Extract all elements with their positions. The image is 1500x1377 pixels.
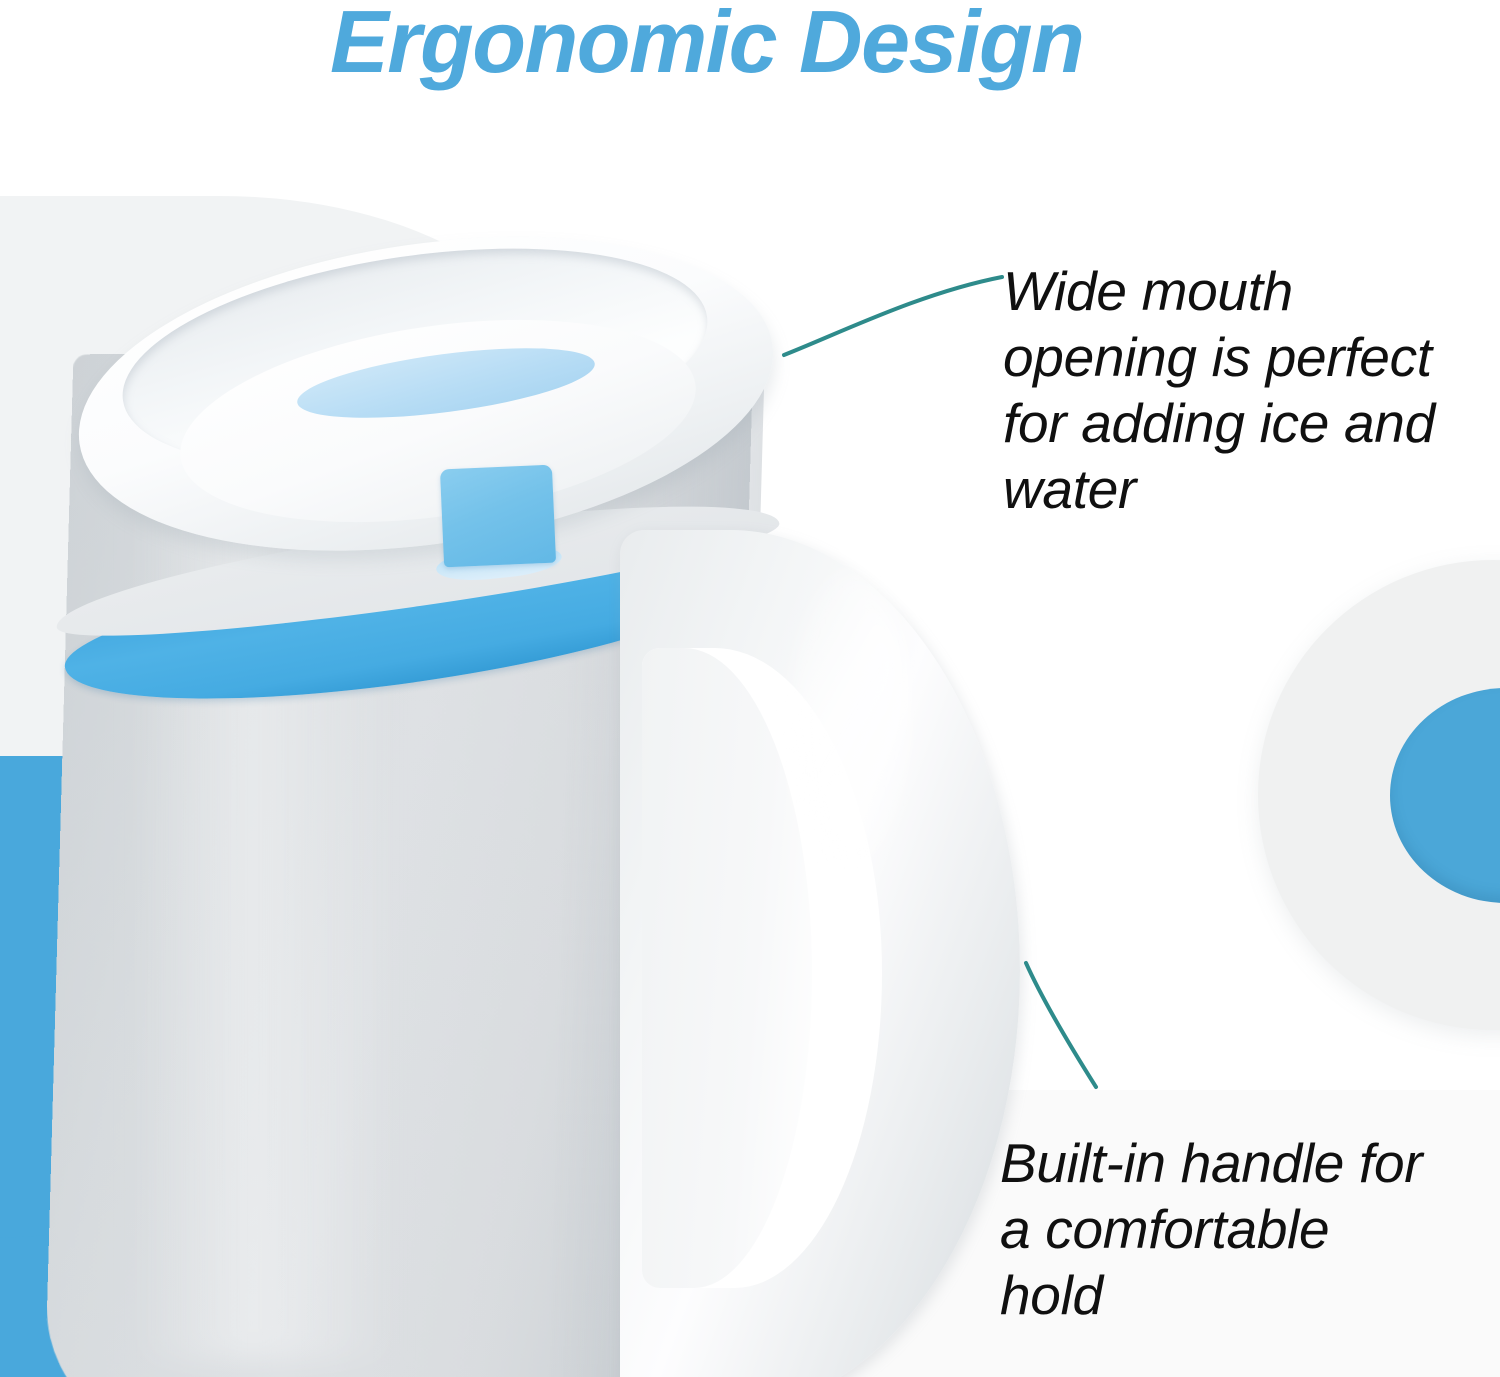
product-mug-illustration	[0, 230, 1060, 1377]
leader-line-built-in-handle	[1000, 945, 1150, 1105]
mug-handle-gloss	[790, 570, 910, 870]
page-title: Ergonomic Design	[330, 0, 1330, 86]
callout-wide-mouth-text: Wide mouth opening is perfect for adding…	[1003, 258, 1443, 522]
leader-line-path	[1026, 963, 1096, 1087]
callout-built-in-handle-text: Built-in handle for a comfortable hold	[1000, 1130, 1430, 1328]
leader-line-path	[784, 277, 1002, 355]
leader-line-wide-mouth	[780, 255, 1010, 365]
mug-handle	[620, 530, 1030, 1377]
infographic-canvas: Ergonomic Design Wide mouth opening is p…	[0, 0, 1500, 1377]
mug-lid-flip-tab	[440, 465, 556, 568]
